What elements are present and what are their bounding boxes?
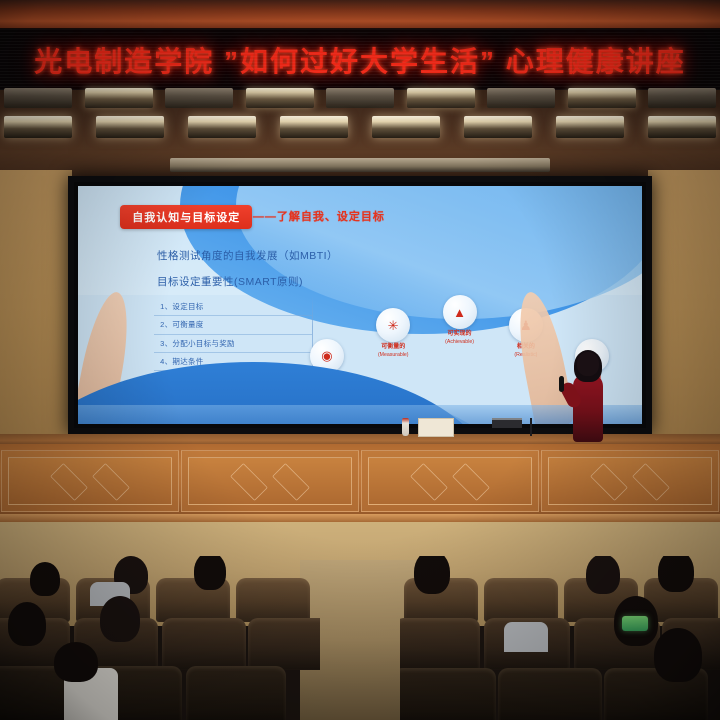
audience-seat	[498, 668, 602, 720]
ceiling-lamp-icon	[464, 116, 532, 138]
ceiling-lamp-icon	[568, 88, 636, 108]
wood-panel	[181, 450, 359, 512]
audience-head	[586, 556, 620, 594]
ceiling-lamp-icon	[407, 88, 475, 108]
target-icon: ◉	[314, 343, 340, 369]
diamond-inlay-icon	[453, 463, 491, 501]
ceiling-lamp-icon	[556, 116, 624, 138]
ceiling-lamp-icon	[165, 88, 233, 108]
diamond-inlay-icon	[50, 463, 88, 501]
wood-panel-inner	[188, 457, 352, 505]
ceiling-lamp-icon	[487, 88, 555, 108]
smart-node-label: 可实现的 (Achievable)	[423, 331, 497, 345]
phone-screen	[622, 616, 648, 631]
wave-graphic-bottom-edge	[78, 405, 642, 424]
audience-head	[414, 556, 450, 594]
lecture-hall-photo: 光电制造学院 ”如何过好大学生活” 心理健康讲座 自我认知与目标设定	[0, 0, 720, 720]
water-bottle	[402, 418, 409, 436]
name-card	[418, 418, 454, 437]
slide-subtitle: ——了解自我、设定目标	[253, 208, 385, 224]
ceiling-lamp-icon	[372, 116, 440, 138]
seating-block-left	[0, 556, 320, 720]
ceiling-lamp-icon	[326, 88, 394, 108]
ceiling-lamp-icon	[96, 116, 164, 138]
speaker-body	[573, 374, 603, 442]
audience-head	[658, 556, 694, 592]
audience-head	[654, 628, 702, 682]
ceiling-lamp-icon	[85, 88, 153, 108]
ceiling-lamp-icon	[280, 116, 348, 138]
speaker-figure	[568, 352, 610, 442]
speaker-head	[577, 352, 599, 376]
list-item: 1、设定目标	[154, 298, 312, 316]
ceiling-lamp-icon	[648, 116, 716, 138]
burst-icon: ✳	[380, 312, 406, 338]
audience-seat	[236, 578, 310, 622]
laptop	[492, 418, 522, 428]
ceiling-lamp-icon	[246, 88, 314, 108]
audience-head	[194, 556, 226, 590]
stairs-icon: ▲	[447, 299, 473, 325]
ceiling-lamp-icon	[4, 88, 72, 108]
ceiling-lamp-icon	[648, 88, 716, 108]
wood-panel-inner	[548, 457, 712, 505]
diamond-inlay-icon	[93, 463, 131, 501]
microphone-icon	[559, 376, 564, 392]
audience-head	[100, 596, 140, 642]
list-item: 2、可衡量度	[154, 316, 312, 334]
smart-label-en: (Achievable)	[423, 339, 497, 346]
ceiling-light-row-2	[0, 116, 720, 138]
slide-body-line-2: 目标设定重要性(SMART原则)	[157, 274, 303, 289]
slide-body-line-1: 性格测试角度的自我发展（如MBTI）	[157, 248, 338, 263]
wood-panel-inner	[8, 457, 172, 505]
smart-label-cn: 可实现的	[448, 331, 472, 337]
audience-seat	[400, 618, 480, 670]
smart-label-cn: 可衡量的	[381, 344, 405, 350]
seating-block-right	[400, 556, 720, 720]
smart-node-achievable: ▲ 可实现的 (Achievable)	[443, 295, 477, 329]
audience-head	[54, 642, 98, 682]
audience-clothing	[504, 622, 548, 652]
smart-node-measurable: ✳ 可衡量的 (Measurable)	[376, 308, 410, 342]
ceiling-lamp-icon	[188, 116, 256, 138]
led-banner-text: 光电制造学院 ”如何过好大学生活” 心理健康讲座	[0, 40, 720, 80]
slide-title-badge: 自我认知与目标设定	[120, 205, 252, 229]
smart-label-en: (Measurable)	[356, 352, 430, 359]
audience-seat	[484, 578, 558, 622]
smart-node-label: 可衡量的 (Measurable)	[356, 344, 430, 358]
audience-seat	[400, 668, 496, 720]
audience-seat	[186, 666, 286, 720]
diamond-inlay-icon	[590, 463, 628, 501]
wood-panel	[361, 450, 539, 512]
audience-seat	[248, 618, 320, 670]
ceiling-lamp-icon	[4, 116, 72, 138]
ceiling-light-row-1	[0, 88, 720, 108]
ceiling-soffit	[170, 158, 550, 172]
wall-right	[648, 170, 720, 470]
diamond-inlay-icon	[410, 463, 448, 501]
diamond-inlay-icon	[230, 463, 268, 501]
wood-panel-inner	[368, 457, 532, 505]
audience-head	[8, 602, 46, 646]
audience-seat	[162, 618, 246, 670]
diamond-inlay-icon	[633, 463, 671, 501]
diamond-inlay-icon	[273, 463, 311, 501]
stage-wood-wall	[0, 444, 720, 520]
audience-head	[30, 562, 60, 596]
led-banner: 光电制造学院 ”如何过好大学生活” 心理健康讲座	[0, 28, 720, 92]
microphone-stand	[530, 418, 532, 436]
wood-panel	[1, 450, 179, 512]
wall-left	[0, 170, 72, 470]
wood-panel	[541, 450, 719, 512]
list-item: 3、分配小目标与奖励	[154, 335, 312, 353]
presentation-slide: 自我认知与目标设定 ——了解自我、设定目标 性格测试角度的自我发展（如MBTI）…	[78, 186, 642, 424]
